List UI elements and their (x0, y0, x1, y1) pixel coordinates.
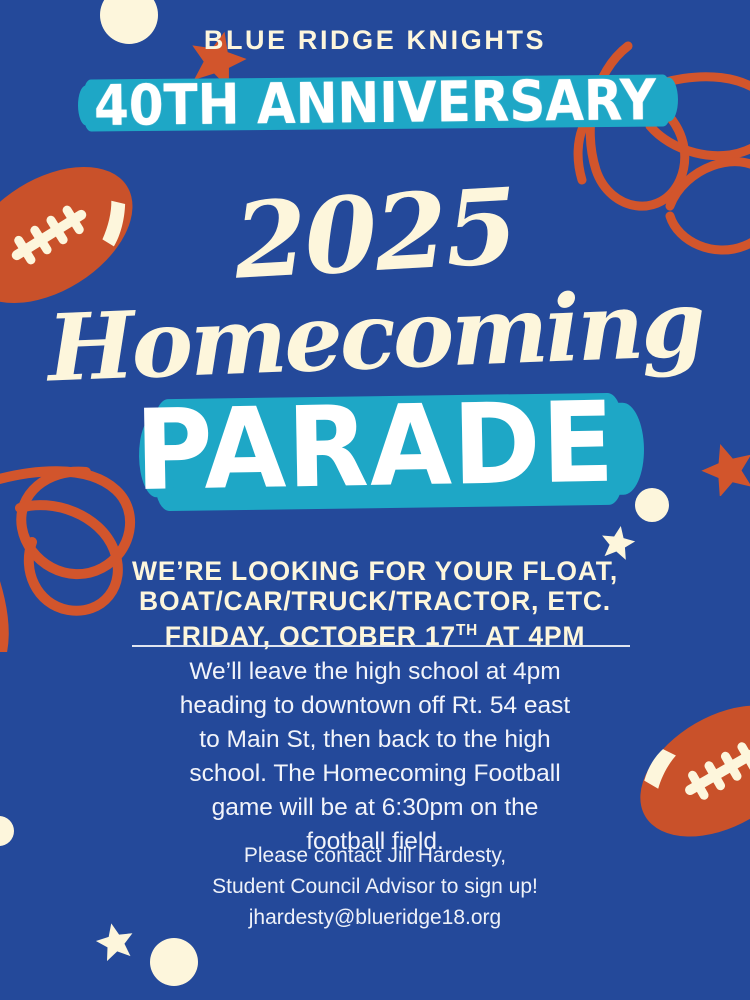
body-line-5: game will be at 6:30pm on the (0, 791, 750, 825)
ordinal-suffix: TH (456, 622, 478, 639)
divider-rule (132, 645, 630, 647)
parade-label: PARADE (134, 375, 616, 520)
contact-line-2: Student Council Advisor to sign up! (0, 871, 750, 902)
body-line-3: to Main St, then back to the high (0, 723, 750, 757)
content-layer: BLUE RIDGE KNIGHTS 40TH ANNIVERSARY 2025… (0, 0, 750, 1000)
body-line-4: school. The Homecoming Football (0, 757, 750, 791)
body-paragraph: We’ll leave the high school at 4pm headi… (0, 655, 750, 859)
subtitle-block: WE’RE LOOKING FOR YOUR FLOAT, BOAT/CAR/T… (0, 556, 750, 651)
body-line-2: heading to downtown off Rt. 54 east (0, 689, 750, 723)
anniversary-banner: 40TH ANNIVERSARY (0, 72, 750, 134)
contact-line-1: Please contact Jill Hardesty, (0, 840, 750, 871)
parade-headline: PARADE (0, 382, 750, 512)
subtitle-line-1: WE’RE LOOKING FOR YOUR FLOAT, (0, 556, 750, 586)
contact-email[interactable]: jhardesty@blueridge18.org (0, 902, 750, 933)
organization-kicker: BLUE RIDGE KNIGHTS (0, 25, 750, 56)
homecoming-parade-flyer: BLUE RIDGE KNIGHTS 40TH ANNIVERSARY 2025… (0, 0, 750, 1000)
anniversary-label: 40TH ANNIVERSARY (94, 65, 657, 140)
contact-block: Please contact Jill Hardesty, Student Co… (0, 840, 750, 933)
subtitle-line-2: BOAT/CAR/TRUCK/TRACTOR, ETC. (0, 586, 750, 616)
body-line-1: We’ll leave the high school at 4pm (0, 655, 750, 689)
